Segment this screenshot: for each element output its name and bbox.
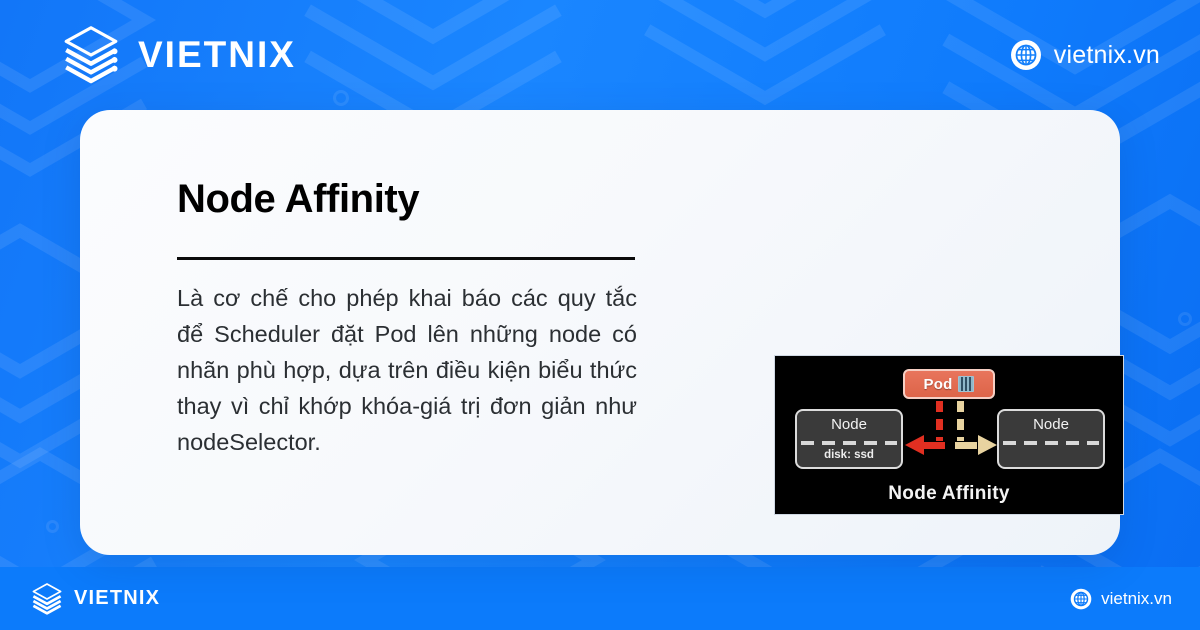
banner-root: VIETNIX vietnix.vn Node Affinity Là cơ c… — [0, 0, 1200, 630]
node-affinity-diagram: Pod Node disk: ssd — [774, 355, 1124, 515]
footer-brand-name: VIETNIX — [74, 587, 160, 610]
description-text: Là cơ chế cho phép khai báo các quy tắc … — [177, 280, 637, 460]
barcode-stripes-icon — [958, 376, 974, 392]
diagram-canvas: Pod Node disk: ssd — [775, 356, 1123, 514]
arrow-head — [905, 435, 924, 455]
pod-label: Pod — [924, 376, 953, 393]
accept-arrow-right-icon — [955, 442, 997, 449]
diagram-caption: Node Affinity — [775, 483, 1123, 505]
node-dash-divider — [1003, 441, 1099, 445]
site-url-link[interactable]: vietnix.vn — [1010, 39, 1160, 71]
footer-site-url-link[interactable]: vietnix.vn — [1070, 588, 1172, 610]
header-bar: VIETNIX vietnix.vn — [0, 0, 1200, 110]
stacked-layers-logo-icon — [60, 24, 122, 86]
node-dash-divider — [801, 441, 897, 445]
globe-icon — [1010, 39, 1042, 71]
brand-logo[interactable]: VIETNIX — [60, 24, 296, 86]
node-label: Node — [797, 416, 901, 433]
page-title: Node Affinity — [177, 177, 640, 221]
card-text-column: Node Affinity Là cơ chế cho phép khai bá… — [80, 110, 640, 460]
node-box-left: Node disk: ssd — [795, 409, 903, 469]
decorative-dot-icon — [46, 520, 59, 533]
footer-bar: VIETNIX vietnix.vn — [0, 567, 1200, 630]
arrow-bar — [955, 442, 977, 449]
brand-name: VIETNIX — [138, 34, 296, 76]
node-box-right: Node — [997, 409, 1105, 469]
arrow-head — [978, 435, 997, 455]
accept-arrow-stem-icon — [957, 401, 964, 441]
footer-brand-logo[interactable]: VIETNIX — [30, 582, 160, 616]
reject-arrow-left-icon — [905, 442, 945, 449]
arrow-bar — [923, 442, 945, 449]
footer-site-url-text: vietnix.vn — [1101, 589, 1172, 609]
node-label: Node — [999, 416, 1103, 433]
title-divider — [177, 257, 635, 260]
decorative-dot-icon — [1178, 312, 1192, 326]
stacked-layers-logo-icon — [30, 582, 64, 616]
site-url-text: vietnix.vn — [1054, 41, 1160, 70]
reject-arrow-stem-icon — [936, 401, 943, 441]
pod-box: Pod — [903, 369, 995, 399]
globe-icon — [1070, 588, 1092, 610]
content-card: Node Affinity Là cơ chế cho phép khai bá… — [80, 110, 1120, 555]
node-label-value: disk: ssd — [797, 449, 901, 461]
